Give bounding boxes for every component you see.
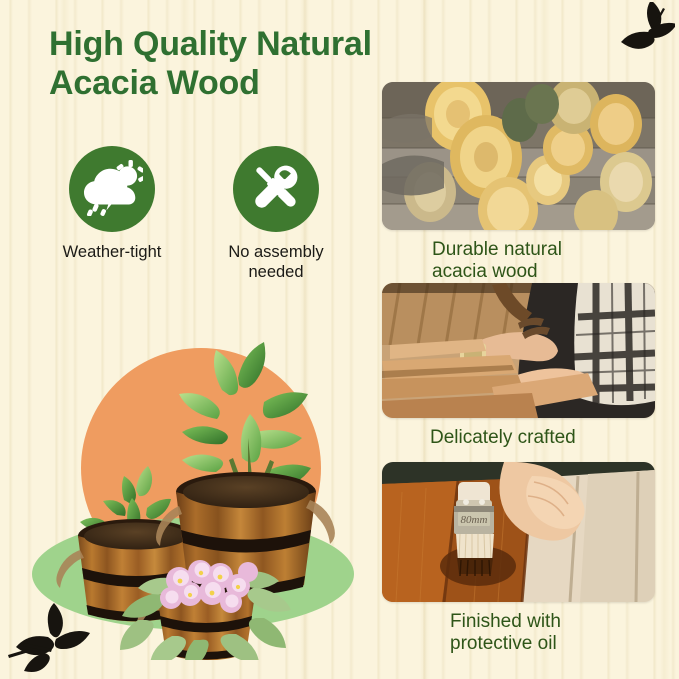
photo-card-logs: Durable natural acacia wood [382, 82, 655, 283]
stacked-acacia-logs-photo [382, 82, 655, 230]
brush-applying-oil-photo: 80mm [382, 462, 655, 602]
photo-card-craft: Delicately crafted [382, 283, 655, 449]
feature-weather-tight: Weather-tight [46, 146, 178, 283]
infographic-page: High Quality Natural Acacia Wood [0, 0, 679, 679]
feature-no-assembly: No assembly needed [210, 146, 342, 283]
feature-icon-circle [233, 146, 319, 232]
caption-line-1: Finished with [450, 611, 655, 633]
wrench-screwdriver-icon [247, 158, 305, 221]
brush-label: 80mm [461, 514, 488, 526]
caption-line-2: acacia wood [432, 261, 655, 283]
feature-label: Weather-tight [63, 243, 162, 263]
feature-label: No assembly needed [210, 243, 342, 283]
photo-caption: Delicately crafted [430, 427, 655, 449]
photo-card-oil: 80mm Finished with protective oil [382, 462, 655, 655]
page-title-line-1: High Quality Natural [49, 25, 372, 63]
caption-line-1: Delicately crafted [430, 427, 655, 449]
photo-caption: Finished with protective oil [450, 611, 655, 655]
photo-caption: Durable natural acacia wood [432, 239, 655, 283]
leaf-branch-top-right-icon [603, 2, 675, 64]
caption-line-2: protective oil [450, 633, 655, 655]
caption-line-1: Durable natural [432, 239, 655, 261]
feature-icon-circle [69, 146, 155, 232]
weather-storm-icon [81, 158, 143, 221]
carpenter-measuring-wood-photo [382, 283, 655, 418]
leaf-branch-bottom-left-icon [8, 603, 94, 673]
feature-badge-list: Weather-tight [46, 146, 346, 283]
